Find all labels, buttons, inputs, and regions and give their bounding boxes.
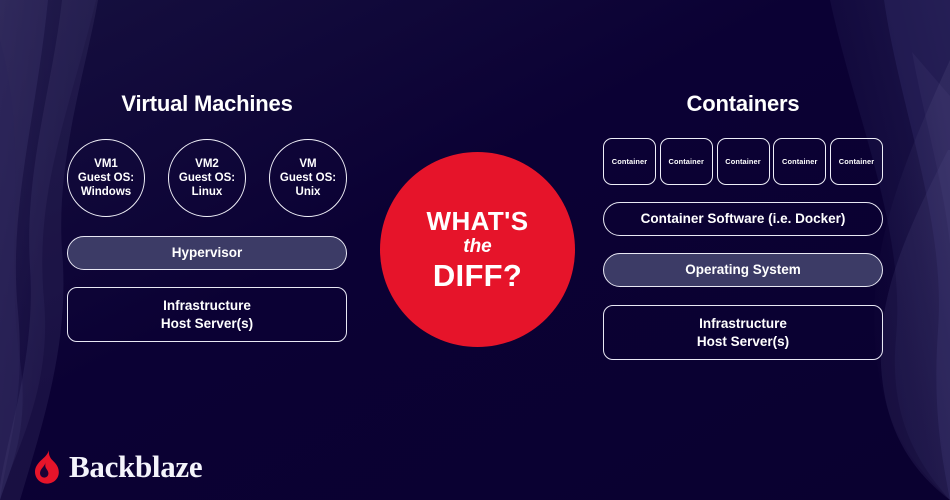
vm-guest-os-label: Guest OS:	[179, 171, 235, 185]
badge-line-whats: WHAT'S	[427, 208, 529, 234]
vm-circle-1: VM1 Guest OS: Windows	[67, 139, 145, 217]
hypervisor-label: Hypervisor	[172, 244, 243, 262]
vm-name: VM	[299, 157, 316, 171]
vm-name: VM1	[94, 157, 118, 171]
page-title-containers: Containers	[603, 91, 883, 117]
vm-infrastructure-line1: Infrastructure	[163, 297, 251, 315]
operating-system-label: Operating System	[685, 261, 801, 279]
container-box-4: Container	[773, 138, 826, 185]
vm-guest-os-label: Guest OS:	[78, 171, 134, 185]
whats-the-diff-badge: WHAT'S the DIFF?	[380, 152, 575, 347]
container-box-label: Container	[725, 157, 760, 166]
page-title-virtual-machines: Virtual Machines	[67, 91, 347, 117]
vm-infrastructure-layer: Infrastructure Host Server(s)	[67, 287, 347, 342]
vm-guest-os-label: Guest OS:	[280, 171, 336, 185]
container-box-label: Container	[612, 157, 647, 166]
container-software-label: Container Software (i.e. Docker)	[641, 210, 846, 228]
container-infrastructure-layer: Infrastructure Host Server(s)	[603, 305, 883, 360]
badge-line-the: the	[463, 235, 492, 259]
container-box-3: Container	[717, 138, 770, 185]
container-box-1: Container	[603, 138, 656, 185]
backblaze-logo: Backblaze	[34, 447, 202, 487]
container-box-5: Container	[830, 138, 883, 185]
vm-circle-row: VM1 Guest OS: Windows VM2 Guest OS: Linu…	[67, 139, 347, 217]
vm-circle-3: VM Guest OS: Unix	[269, 139, 347, 217]
badge-line-diff: DIFF?	[433, 260, 522, 291]
infographic-canvas: Virtual Machines VM1 Guest OS: Windows V…	[0, 0, 950, 500]
container-box-2: Container	[660, 138, 713, 185]
container-box-label: Container	[839, 157, 874, 166]
brand-name: Backblaze	[69, 449, 202, 485]
container-software-layer: Container Software (i.e. Docker)	[603, 202, 883, 236]
container-box-label: Container	[669, 157, 704, 166]
vm-circle-2: VM2 Guest OS: Linux	[168, 139, 246, 217]
hypervisor-layer: Hypervisor	[67, 236, 347, 270]
vm-name: VM2	[195, 157, 219, 171]
flame-icon	[34, 450, 60, 484]
operating-system-layer: Operating System	[603, 253, 883, 287]
container-box-row: Container Container Container Container …	[603, 138, 883, 185]
vm-infrastructure-line2: Host Server(s)	[161, 315, 253, 333]
vm-guest-os: Unix	[296, 185, 321, 199]
container-infrastructure-line1: Infrastructure	[699, 315, 787, 333]
container-infrastructure-line2: Host Server(s)	[697, 333, 789, 351]
container-box-label: Container	[782, 157, 817, 166]
vm-guest-os: Linux	[192, 185, 223, 199]
vm-guest-os: Windows	[81, 185, 131, 199]
